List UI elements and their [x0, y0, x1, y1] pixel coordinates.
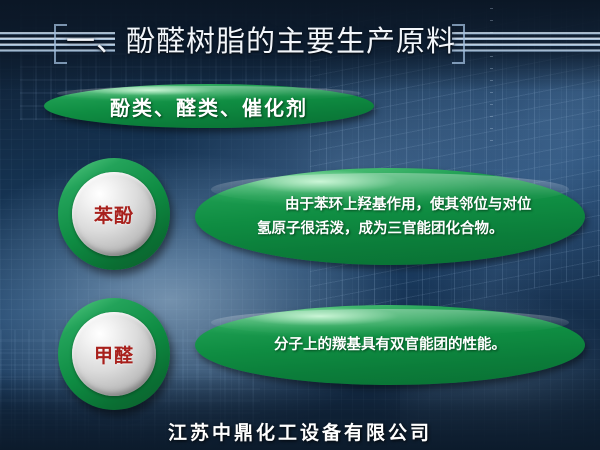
subtitle-banner: 酚类、醛类、催化剂	[44, 84, 374, 128]
description-text-formaldehyde: 分子上的羰基具有双官能团的性能。	[230, 333, 550, 357]
material-disc-label-phenol: 苯酚	[94, 201, 134, 228]
description-text-phenol: 由于苯环上羟基作用，使其邻位与对位氢原子很活泼，成为三官能团化合物。	[257, 193, 537, 241]
company-footer: 江苏中鼎化工设备有限公司	[0, 418, 600, 445]
slide-title: 一、酚醛树脂的主要生产原料	[66, 22, 466, 62]
description-ellipse-phenol: 由于苯环上羟基作用，使其邻位与对位氢原子很活泼，成为三官能团化合物。	[195, 168, 585, 265]
title-bars-right	[452, 30, 600, 56]
material-disc-phenol: 苯酚	[58, 158, 170, 270]
material-disc-inner: 甲醛	[72, 312, 156, 396]
subtitle-banner-label: 酚类、醛类、催化剂	[110, 92, 308, 121]
material-disc-formaldehyde: 甲醛	[58, 298, 170, 410]
presentation-slide: 一、酚醛树脂的主要生产原料 酚类、醛类、催化剂 苯酚 由于苯环上羟基作用，使其邻…	[0, 0, 600, 450]
material-disc-inner: 苯酚	[72, 172, 156, 256]
material-disc-label-formaldehyde: 甲醛	[94, 341, 134, 368]
description-ellipse-formaldehyde: 分子上的羰基具有双官能团的性能。	[195, 305, 585, 385]
